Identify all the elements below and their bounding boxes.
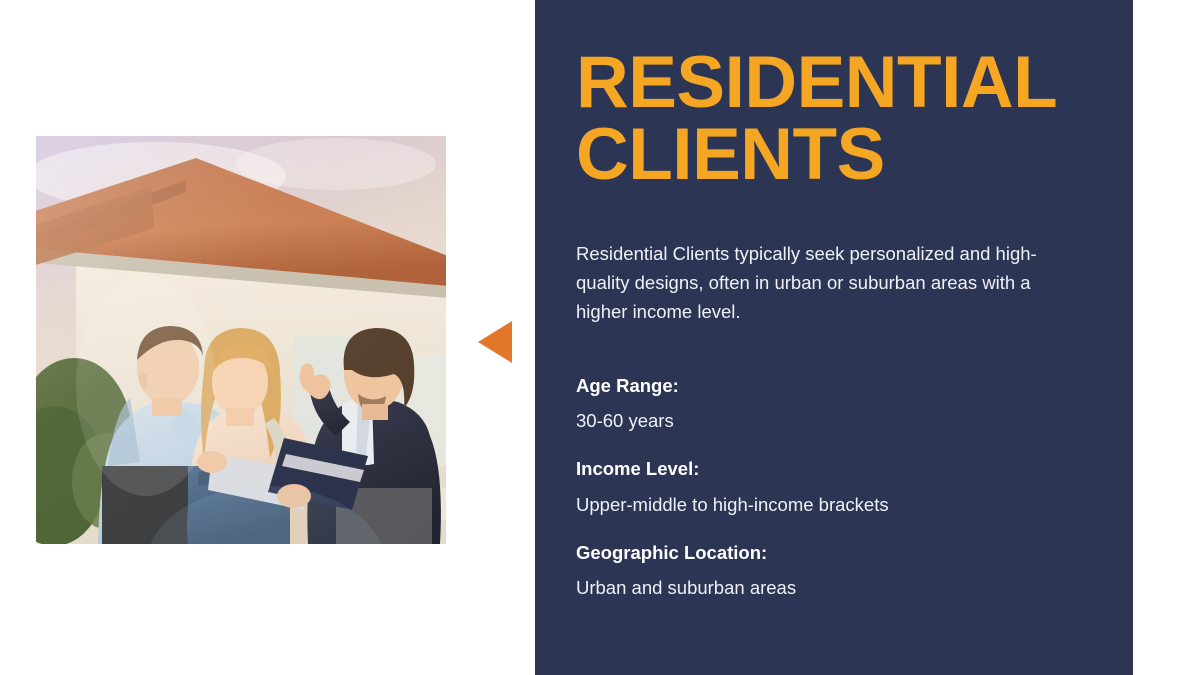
field-label: Age Range: <box>576 375 1096 397</box>
panel-inner: RESIDENTIAL CLIENTS Residential Clients … <box>576 0 1103 675</box>
field-age-range: Age Range: 30-60 years <box>576 375 1096 432</box>
field-value: Upper-middle to high-income brackets <box>576 494 1096 516</box>
detail-fields: Age Range: 30-60 years Income Level: Upp… <box>576 375 1096 599</box>
slide-root: RESIDENTIAL CLIENTS Residential Clients … <box>0 0 1200 675</box>
page-title-line-1: RESIDENTIAL <box>576 42 1057 123</box>
page-title: RESIDENTIAL CLIENTS <box>576 47 1106 190</box>
page-title-line-2: CLIENTS <box>576 114 885 195</box>
description-text: Residential Clients typically seek perso… <box>576 239 1046 327</box>
field-value: 30-60 years <box>576 410 1096 432</box>
content-panel: RESIDENTIAL CLIENTS Residential Clients … <box>535 0 1133 675</box>
photo-illustration <box>36 136 446 544</box>
field-label: Income Level: <box>576 458 1096 480</box>
field-label: Geographic Location: <box>576 542 1096 564</box>
field-geographic-location: Geographic Location: Urban and suburban … <box>576 542 1096 599</box>
client-photo <box>36 136 446 544</box>
left-pointing-triangle-icon <box>478 321 512 363</box>
field-value: Urban and suburban areas <box>576 577 1096 599</box>
field-income-level: Income Level: Upper-middle to high-incom… <box>576 458 1096 515</box>
